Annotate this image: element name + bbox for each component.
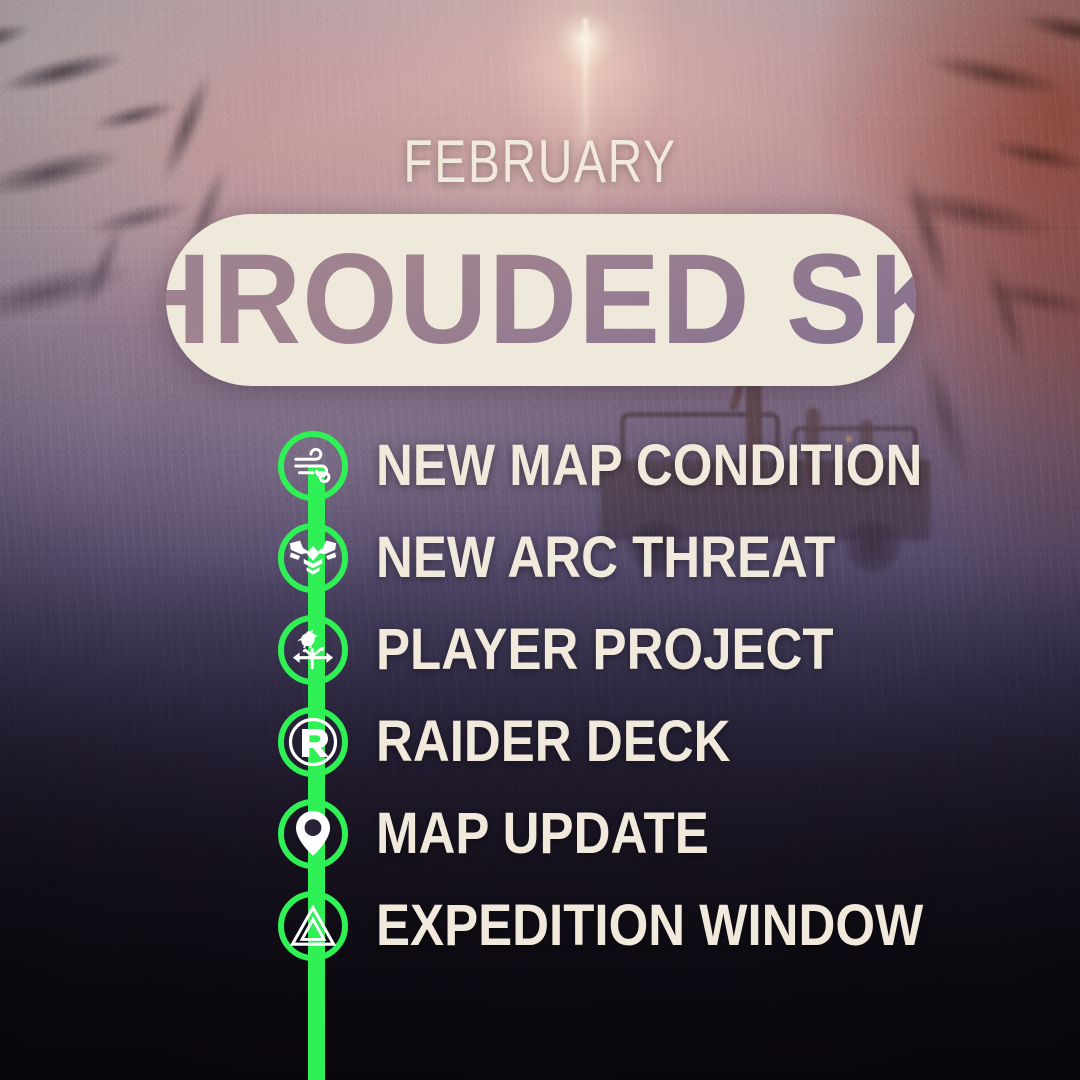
raider-r-logo-icon	[278, 707, 348, 777]
list-item-label: MAP UPDATE	[376, 804, 709, 864]
list-item[interactable]: PLAYER PROJECT	[0, 604, 896, 696]
wind-icon	[278, 431, 348, 501]
list-item[interactable]: MAP UPDATE	[0, 788, 754, 880]
list-item-label: EXPEDITION WINDOW	[376, 896, 923, 956]
list-item-label: PLAYER PROJECT	[376, 620, 834, 680]
poster-canvas: FEBRUARY SHROUDED SKY	[0, 0, 1080, 1080]
winged-chevron-emblem-icon	[278, 523, 348, 593]
map-pin-icon	[278, 799, 348, 869]
timeline-node[interactable]	[278, 612, 354, 688]
nested-triangle-icon	[278, 891, 348, 961]
list-item[interactable]: NEW ARC THREAT	[0, 512, 898, 604]
poster-content: FEBRUARY SHROUDED SKY	[0, 0, 1080, 1080]
list-item[interactable]: RAIDER DECK	[0, 696, 779, 788]
timeline-node[interactable]	[278, 520, 354, 596]
timeline: NEW MAP CONDITION	[0, 0, 1080, 1080]
timeline-node[interactable]	[278, 888, 354, 964]
timeline-node[interactable]	[278, 704, 354, 780]
list-item[interactable]: EXPEDITION WINDOW	[0, 880, 998, 972]
list-item-label: RAIDER DECK	[376, 712, 730, 772]
timeline-node[interactable]	[278, 796, 354, 872]
weather-vane-icon	[278, 615, 348, 685]
timeline-node[interactable]	[278, 428, 354, 504]
list-item[interactable]: NEW MAP CONDITION	[0, 420, 997, 512]
list-item-label: NEW ARC THREAT	[376, 528, 835, 588]
list-item-label: NEW MAP CONDITION	[376, 436, 922, 496]
